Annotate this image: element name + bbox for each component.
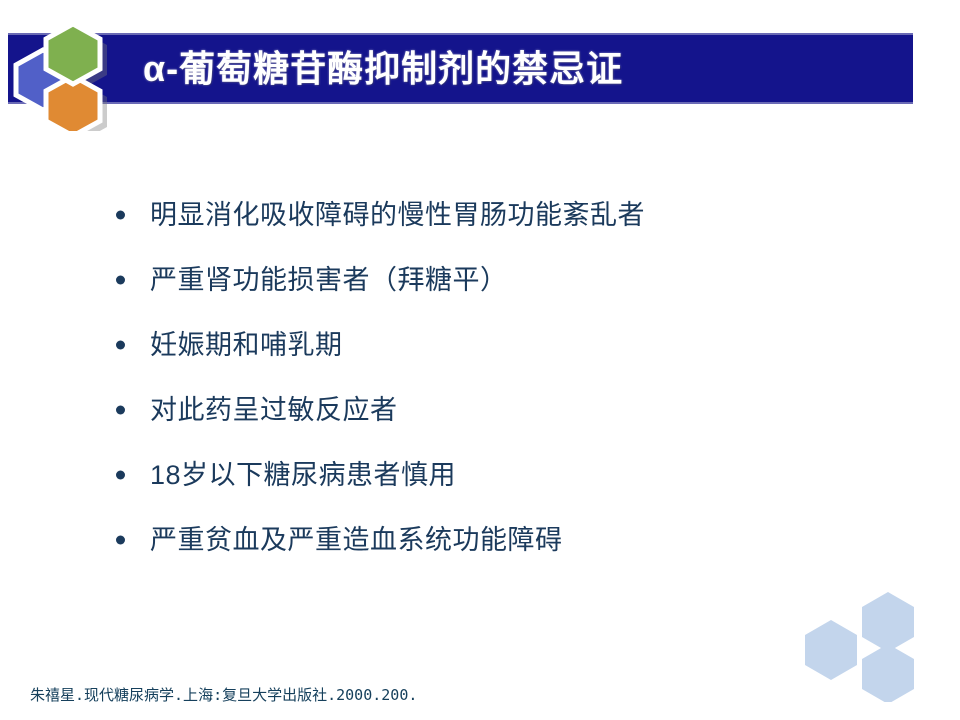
footer-citation: 朱禧星.现代糖尿病学.上海:复旦大学出版社.2000.200.: [30, 685, 417, 705]
bullet-dot-icon: [116, 210, 125, 219]
list-item: 18岁以下糖尿病患者慎用: [0, 442, 960, 507]
list-item: 妊娠期和哺乳期: [0, 312, 960, 377]
list-item: 明显消化吸收障碍的慢性胃肠功能紊乱者: [0, 182, 960, 247]
bullet-text: 严重肾功能损害者（拜糖平）: [150, 262, 508, 298]
bullet-text: 严重贫血及严重造血系统功能障碍: [150, 522, 563, 558]
page-title: α-葡萄糖苷酶抑制剂的禁忌证: [143, 45, 623, 93]
bullet-dot-icon: [116, 470, 125, 479]
bullet-dot-icon: [116, 405, 125, 414]
decor-hexagon-left: [805, 620, 857, 680]
bullet-text: 对此药呈过敏反应者: [150, 392, 398, 428]
list-item: 对此药呈过敏反应者: [0, 377, 960, 442]
green-hexagon: [46, 24, 100, 84]
list-item: 严重肾功能损害者（拜糖平）: [0, 247, 960, 312]
bullet-list: 明显消化吸收障碍的慢性胃肠功能紊乱者 严重肾功能损害者（拜糖平） 妊娠期和哺乳期…: [0, 182, 960, 572]
decor-hexagon-bottom-right: [862, 644, 914, 702]
bullet-text: 明显消化吸收障碍的慢性胃肠功能紊乱者: [150, 197, 645, 233]
title-bar-bottom-edge: [8, 102, 913, 104]
bullet-dot-icon: [116, 275, 125, 284]
decor-hexagon-top-right: [862, 592, 914, 652]
bullet-dot-icon: [116, 535, 125, 544]
hexagon-decoration: [795, 592, 960, 702]
slide-canvas: α-葡萄糖苷酶抑制剂的禁忌证 明显消化吸收障碍的慢性胃肠功能紊乱者 严重肾功能损…: [0, 0, 960, 720]
hexagon-logo: [10, 16, 130, 131]
bullet-text: 18岁以下糖尿病患者慎用: [150, 457, 456, 493]
list-item: 严重贫血及严重造血系统功能障碍: [0, 507, 960, 572]
bullet-text: 妊娠期和哺乳期: [150, 327, 343, 363]
bullet-dot-icon: [116, 340, 125, 349]
